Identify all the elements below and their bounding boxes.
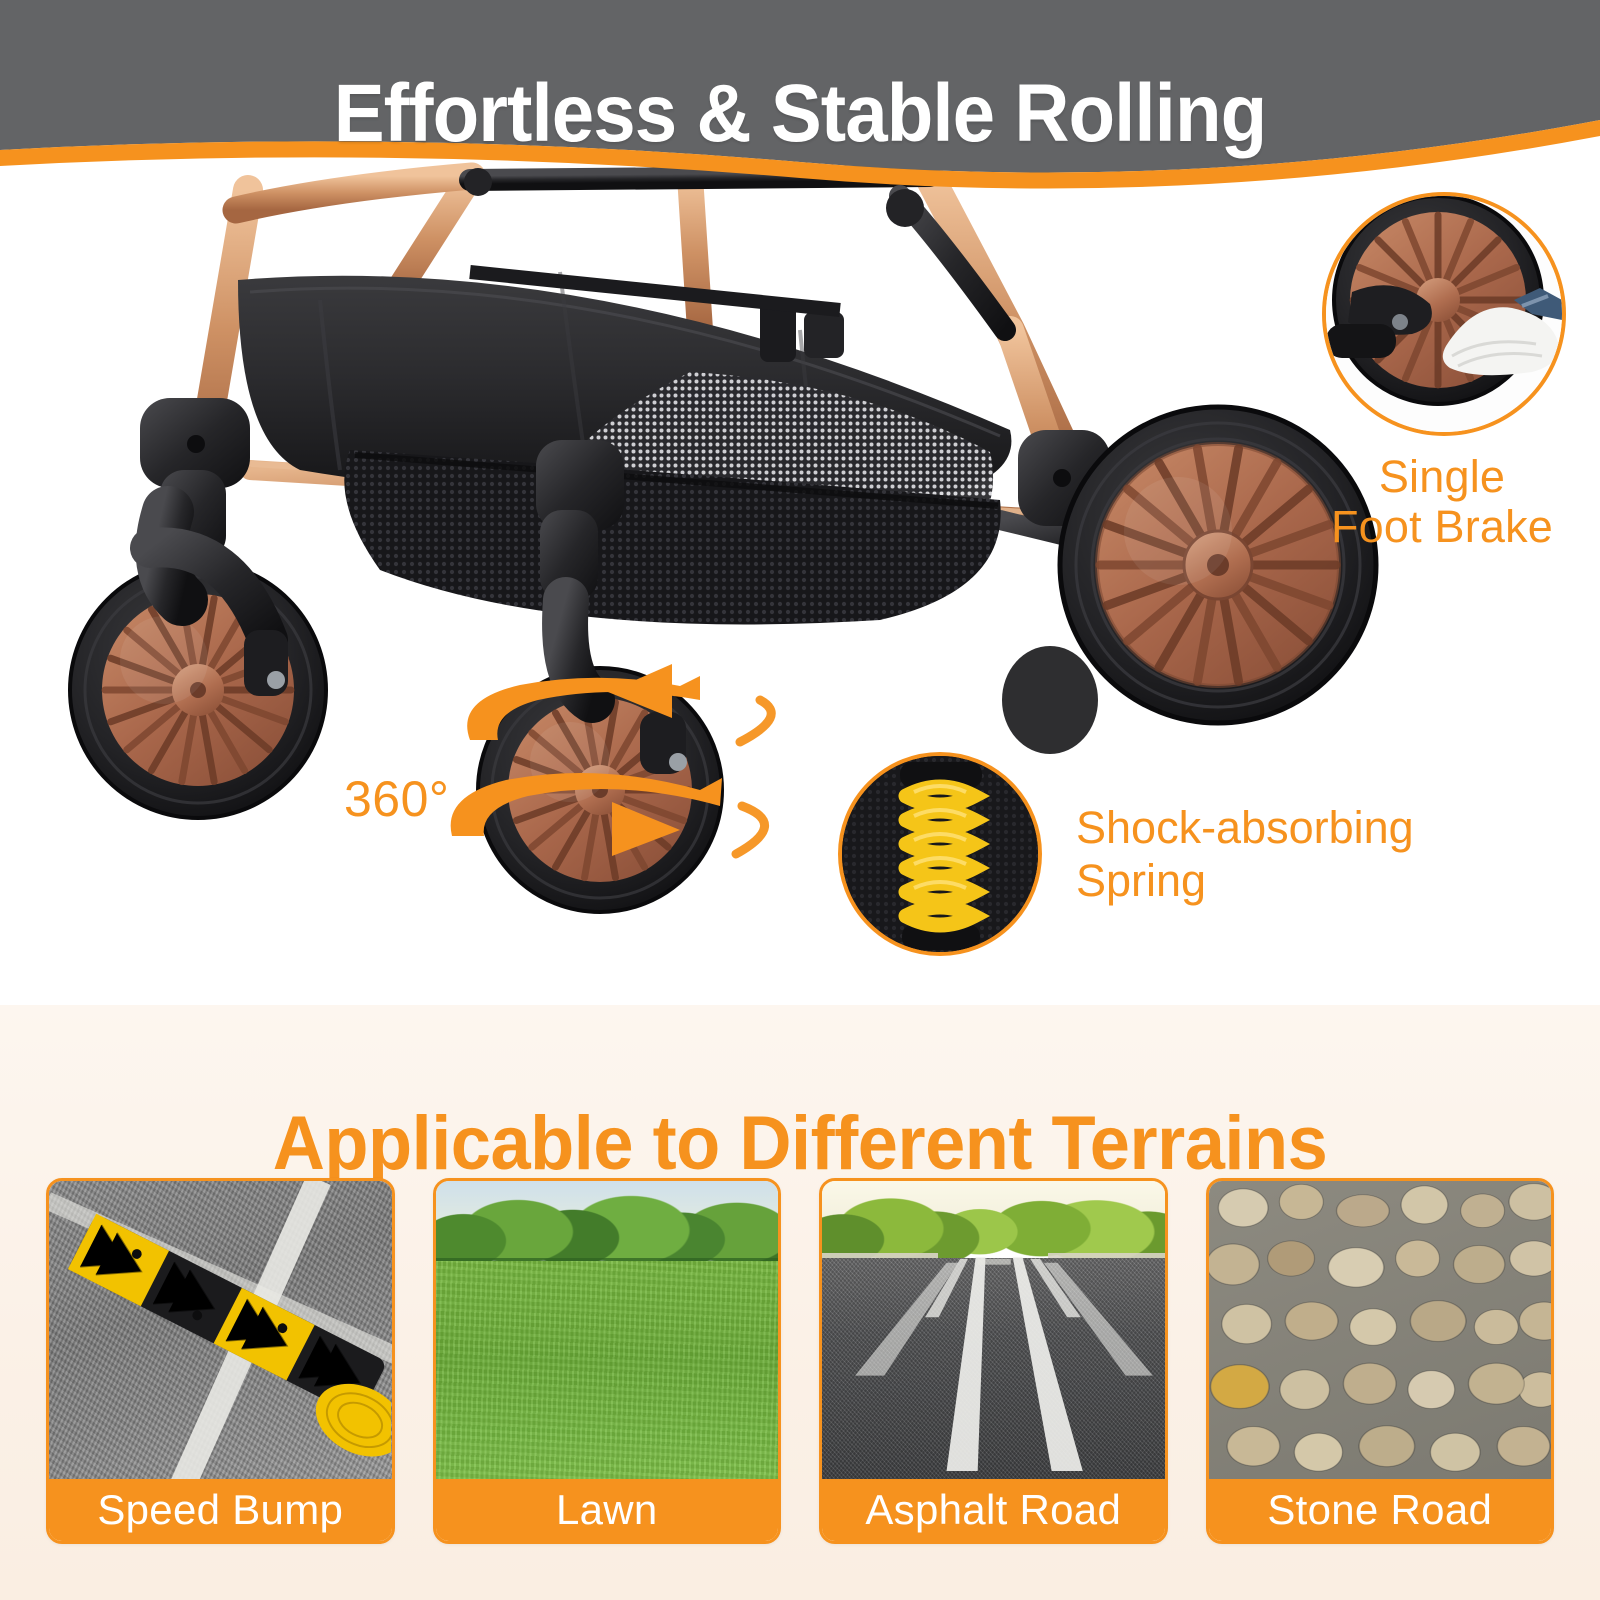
callout-single-foot-brake: Single Foot Brake	[1322, 192, 1562, 553]
callout-line-1: Single	[1322, 452, 1562, 502]
terrain-tile-stone-road[interactable]: Stone Road	[1206, 1178, 1555, 1544]
page-title: Effortless & Stable Rolling	[56, 67, 1544, 161]
terrains-title: Applicable to Different Terrains	[40, 1100, 1560, 1187]
callout-caption: Single Foot Brake	[1322, 452, 1562, 553]
stone-road-photo	[1209, 1181, 1552, 1479]
rotation-degree-label: 360°	[344, 770, 449, 828]
terrain-tile-label: Asphalt Road	[822, 1479, 1165, 1541]
terrain-tile-list: Speed Bump Lawn	[46, 1178, 1554, 1544]
speed-bump-photo	[49, 1181, 392, 1479]
infographic-page: 360° Effortless & Stable Rolling	[0, 0, 1600, 1600]
terrain-tile-speed-bump[interactable]: Speed Bump	[46, 1178, 395, 1544]
callout-shock-absorbing-spring: Shock-absorbing Spring	[838, 752, 1414, 956]
callout-line-2: Foot Brake	[1322, 502, 1562, 552]
terrains-section: Applicable to Different Terrains	[0, 1005, 1600, 1600]
brake-photo	[1322, 192, 1566, 436]
lawn-photo	[436, 1181, 779, 1479]
terrain-tile-asphalt-road[interactable]: Asphalt Road	[819, 1178, 1168, 1544]
terrain-tile-label: Lawn	[436, 1479, 779, 1541]
terrain-tile-lawn[interactable]: Lawn	[433, 1178, 782, 1544]
spring-photo	[838, 752, 1042, 956]
hero-section: 360° Effortless & Stable Rolling	[0, 0, 1600, 1005]
terrain-tile-label: Speed Bump	[49, 1479, 392, 1541]
callout-caption: Shock-absorbing Spring	[1076, 801, 1414, 907]
terrain-tile-label: Stone Road	[1209, 1479, 1552, 1541]
callout-line-1: Shock-absorbing	[1076, 801, 1414, 854]
callout-line-2: Spring	[1076, 854, 1414, 907]
asphalt-road-photo	[822, 1181, 1165, 1479]
